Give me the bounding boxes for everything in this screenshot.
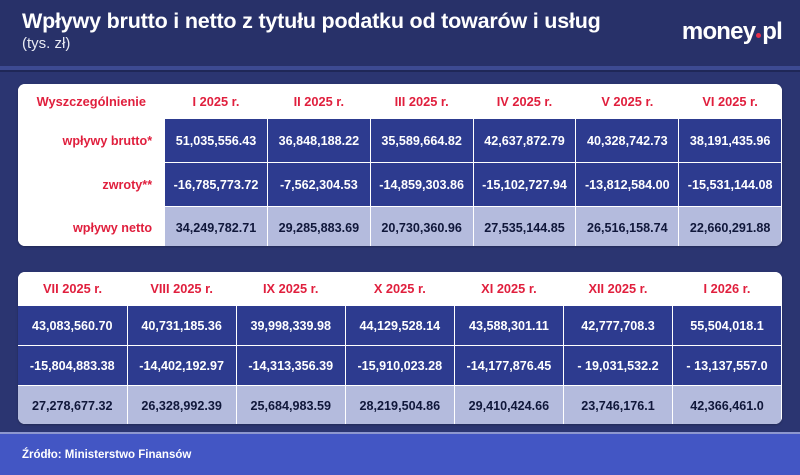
cell-zwroty-5: -13,812,584.00 bbox=[576, 163, 679, 207]
cell-zwroty-11: -14,177,876.45 bbox=[454, 346, 563, 386]
logo-tld: pl bbox=[762, 18, 782, 46]
table-h2: VII 2025 r. VIII 2025 r. IX 2025 r. X 20… bbox=[18, 272, 782, 424]
table-row-zwroty: -15,804,883.38 -14,402,192.97 -14,313,35… bbox=[18, 346, 782, 386]
cell-zwroty-10: -15,910,023.28 bbox=[345, 346, 454, 386]
header-divider-shadow bbox=[0, 70, 800, 72]
cell-zwroty-3: -14,859,303.86 bbox=[370, 163, 473, 207]
cell-netto-3: 20,730,360.96 bbox=[370, 207, 473, 247]
cell-brutto-7: 43,083,560.70 bbox=[18, 306, 127, 346]
cell-netto-7: 27,278,677.32 bbox=[18, 386, 127, 425]
data-table-second-half: VII 2025 r. VIII 2025 r. IX 2025 r. X 20… bbox=[18, 272, 782, 424]
cell-netto-2: 29,285,883.69 bbox=[267, 207, 370, 247]
table-row-brutto: wpływy brutto* 51,035,556.43 36,848,188.… bbox=[18, 119, 782, 163]
page-subtitle: (tys. zł) bbox=[22, 34, 662, 53]
cell-brutto-3: 35,589,664.82 bbox=[370, 119, 473, 163]
cell-netto-13: 42,366,461.0 bbox=[672, 386, 781, 425]
cell-netto-8: 26,328,992.39 bbox=[127, 386, 236, 425]
table-row-zwroty: zwroty** -16,785,773.72 -7,562,304.53 -1… bbox=[18, 163, 782, 207]
cell-netto-12: 23,746,176.1 bbox=[563, 386, 672, 425]
col-header-5: V 2025 r. bbox=[576, 84, 679, 119]
header-bar: Wpływy brutto i netto z tytułu podatku o… bbox=[0, 0, 800, 66]
cell-zwroty-4: -15,102,727.94 bbox=[473, 163, 576, 207]
cell-brutto-9: 39,998,339.98 bbox=[236, 306, 345, 346]
data-table-first-half: Wyszczególnienie I 2025 r. II 2025 r. II… bbox=[18, 84, 782, 246]
table-header-row: VII 2025 r. VIII 2025 r. IX 2025 r. X 20… bbox=[18, 272, 782, 306]
col-header-wyszczegolnienie: Wyszczególnienie bbox=[18, 84, 165, 119]
cell-brutto-4: 42,637,872.79 bbox=[473, 119, 576, 163]
money-pl-logo: moneypl bbox=[682, 18, 782, 46]
col-header-10: X 2025 r. bbox=[345, 272, 454, 306]
col-header-1: I 2025 r. bbox=[165, 84, 268, 119]
row-label-netto: wpływy netto bbox=[18, 207, 165, 247]
cell-zwroty-12: - 19,031,532.2 bbox=[563, 346, 672, 386]
cell-zwroty-9: -14,313,356.39 bbox=[236, 346, 345, 386]
cell-netto-5: 26,516,158.74 bbox=[576, 207, 679, 247]
title-block: Wpływy brutto i netto z tytułu podatku o… bbox=[22, 8, 662, 53]
cell-brutto-10: 44,129,528.14 bbox=[345, 306, 454, 346]
infographic-root: Wpływy brutto i netto z tytułu podatku o… bbox=[0, 0, 800, 475]
row-label-brutto: wpływy brutto* bbox=[18, 119, 165, 163]
cell-brutto-12: 42,777,708.3 bbox=[563, 306, 672, 346]
table-row-netto: 27,278,677.32 26,328,992.39 25,684,983.5… bbox=[18, 386, 782, 425]
cell-zwroty-13: - 13,137,557.0 bbox=[672, 346, 781, 386]
logo-word: money bbox=[682, 18, 755, 46]
cell-netto-11: 29,410,424.66 bbox=[454, 386, 563, 425]
cell-netto-4: 27,535,144.85 bbox=[473, 207, 576, 247]
col-header-8: VIII 2025 r. bbox=[127, 272, 236, 306]
cell-brutto-13: 55,504,018.1 bbox=[672, 306, 781, 346]
col-header-9: IX 2025 r. bbox=[236, 272, 345, 306]
cell-zwroty-1: -16,785,773.72 bbox=[165, 163, 268, 207]
cell-brutto-6: 38,191,435.96 bbox=[679, 119, 782, 163]
cell-zwroty-6: -15,531,144.08 bbox=[679, 163, 782, 207]
cell-netto-1: 34,249,782.71 bbox=[165, 207, 268, 247]
cell-zwroty-2: -7,562,304.53 bbox=[267, 163, 370, 207]
cell-netto-10: 28,219,504.86 bbox=[345, 386, 454, 425]
col-header-6: VI 2025 r. bbox=[679, 84, 782, 119]
cell-brutto-11: 43,588,301.11 bbox=[454, 306, 563, 346]
table-row-netto: wpływy netto 34,249,782.71 29,285,883.69… bbox=[18, 207, 782, 247]
cell-netto-9: 25,684,983.59 bbox=[236, 386, 345, 425]
col-header-2: II 2025 r. bbox=[267, 84, 370, 119]
col-header-13: I 2026 r. bbox=[672, 272, 781, 306]
cell-brutto-2: 36,848,188.22 bbox=[267, 119, 370, 163]
col-header-3: III 2025 r. bbox=[370, 84, 473, 119]
col-header-11: XI 2025 r. bbox=[454, 272, 563, 306]
logo-dot-icon bbox=[756, 33, 761, 38]
source-note: Źródło: Ministerstwo Finansów bbox=[22, 449, 191, 461]
cell-brutto-1: 51,035,556.43 bbox=[165, 119, 268, 163]
col-header-4: IV 2025 r. bbox=[473, 84, 576, 119]
table-h1: Wyszczególnienie I 2025 r. II 2025 r. II… bbox=[18, 84, 782, 246]
cell-brutto-5: 40,328,742.73 bbox=[576, 119, 679, 163]
cell-netto-6: 22,660,291.88 bbox=[679, 207, 782, 247]
cell-zwroty-7: -15,804,883.38 bbox=[18, 346, 127, 386]
page-title: Wpływy brutto i netto z tytułu podatku o… bbox=[22, 8, 662, 34]
cell-brutto-8: 40,731,185.36 bbox=[127, 306, 236, 346]
cell-zwroty-8: -14,402,192.97 bbox=[127, 346, 236, 386]
table-header-row: Wyszczególnienie I 2025 r. II 2025 r. II… bbox=[18, 84, 782, 119]
col-header-7: VII 2025 r. bbox=[18, 272, 127, 306]
col-header-12: XII 2025 r. bbox=[563, 272, 672, 306]
table-row-brutto: 43,083,560.70 40,731,185.36 39,998,339.9… bbox=[18, 306, 782, 346]
row-label-zwroty: zwroty** bbox=[18, 163, 165, 207]
